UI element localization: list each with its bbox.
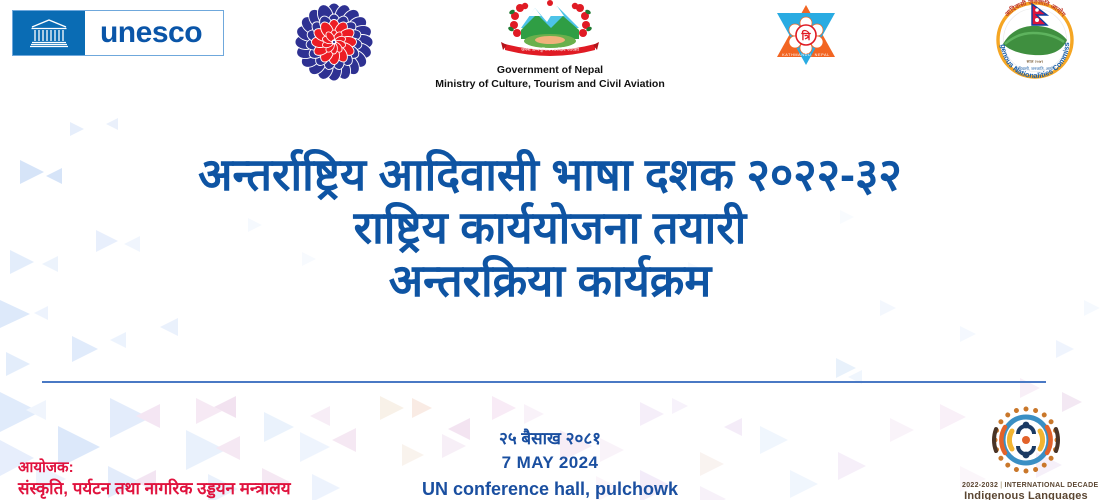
title-line-3: अन्तरक्रिया कार्यक्रम <box>0 254 1100 307</box>
idil-years: 2022-2032 <box>962 482 998 489</box>
organiser-name: संस्कृति, पर्यटन तथा नागरिक उड्डयन मन्त्… <box>18 478 291 500</box>
svg-text:साल २०७९: साल २०७९ <box>1027 59 1044 64</box>
idil-logo-block: 2022-2032|INTERNATIONAL DECADE OF Indige… <box>962 406 1090 500</box>
organiser-label: आयोजक: <box>18 458 291 478</box>
gon-caption-line2: Ministry of Culture, Tourism and Civil A… <box>418 78 682 91</box>
greek-temple-icon <box>13 11 85 55</box>
idil-caption-row: 2022-2032|INTERNATIONAL DECADE OF <box>962 482 1090 489</box>
nepal-academy-rosette-logo <box>278 2 390 82</box>
logo-strip: unesco <box>0 0 1100 100</box>
svg-text:विश्वविद्यालय: विश्वविद्यालय <box>813 8 833 13</box>
tribhuvan-university-logo: त्रि त्रिभुवन विश्वविद्यालय KATHMANDU, N… <box>757 2 855 68</box>
event-date-nepali: २५ बैसाख २०८१ <box>0 428 1100 451</box>
idil-caption-2: Indigenous Languages <box>962 490 1090 500</box>
title-line-2: राष्ट्रिय कार्ययोजना तयारी <box>0 201 1100 254</box>
idil-caption: INTERNATIONAL DECADE OF <box>1004 482 1100 489</box>
organiser-block: आयोजक: संस्कृति, पर्यटन तथा नागरिक उड्डय… <box>18 458 291 500</box>
horizontal-divider <box>42 381 1046 383</box>
event-title: अन्तर्राष्ट्रिय आदिवासी भाषा दशक २०२२-३२… <box>0 148 1100 307</box>
svg-text:त्रि: त्रि <box>801 29 812 43</box>
nepal-coat-of-arms-icon: जननी जन्मभूमिश्च स्वर्गादपि गरीयसी <box>491 0 609 58</box>
indigenous-nationalities-commission-logo: साल २०७९ आदिवासी, जनजाति, आयोग Indigenou… <box>985 0 1085 86</box>
title-line-1: अन्तर्राष्ट्रिय आदिवासी भाषा दशक २०२२-३२ <box>0 148 1100 201</box>
tu-bottom-label: KATHMANDU, NEPAL <box>782 53 830 57</box>
unesco-wordmark: unesco <box>85 11 223 55</box>
unesco-logo: unesco <box>12 10 224 56</box>
gon-caption-line1: Government of Nepal <box>418 64 682 77</box>
event-banner: unesco <box>0 0 1100 500</box>
government-of-nepal-block: जननी जन्मभूमिश्च स्वर्गादपि गरीयसी Gover… <box>418 0 682 84</box>
idil-emblem-icon <box>989 406 1063 476</box>
